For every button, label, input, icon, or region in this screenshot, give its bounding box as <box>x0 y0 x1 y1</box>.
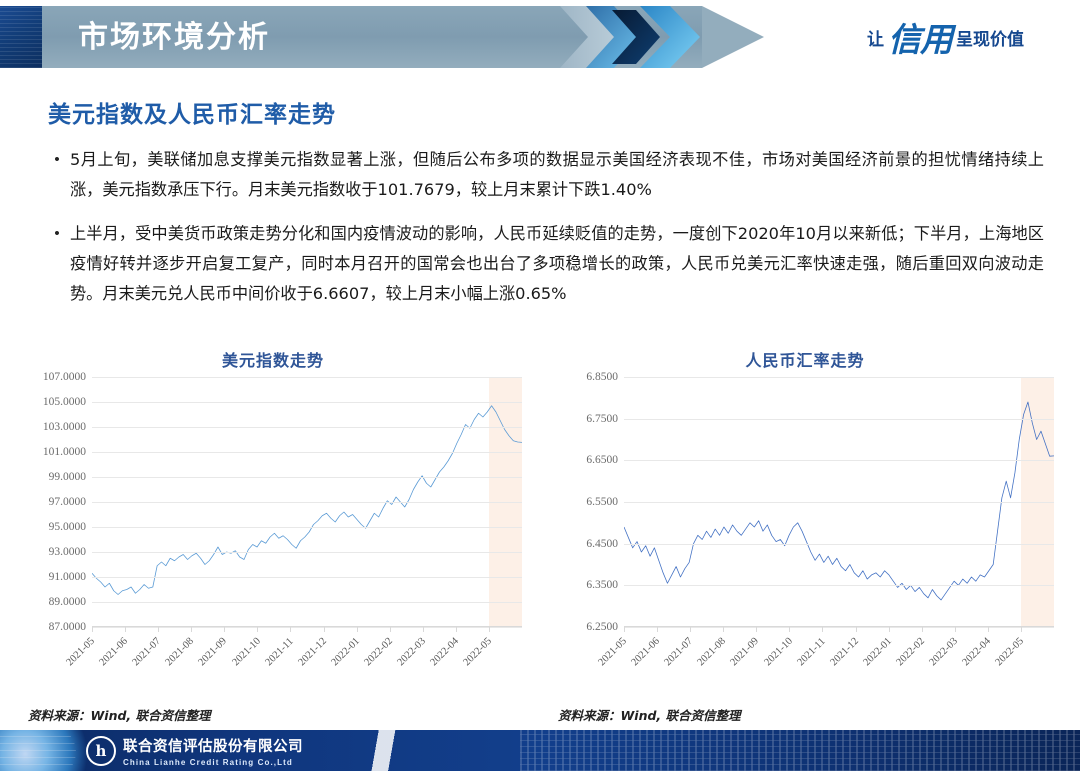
gridline <box>92 402 522 403</box>
bullet-marker: • <box>44 219 70 309</box>
x-tick-label: 2021-10 <box>762 636 795 669</box>
x-tick-label: 2022-01 <box>329 636 362 669</box>
page-title: 市场环境分析 <box>78 15 598 61</box>
y-tick-label: 89.0000 <box>49 596 86 608</box>
gridline <box>92 577 522 578</box>
section-title: 美元指数及人民币汇率走势 <box>48 95 336 129</box>
x-axis-labels: 2021-052021-062021-072021-082021-092021-… <box>92 628 522 688</box>
chevron-arrows-icon <box>560 4 770 70</box>
plot-area: 107.0000105.0000103.0000101.000099.00009… <box>18 377 528 627</box>
chart-usd-index: 美元指数走势 107.0000105.0000103.0000101.00009… <box>18 345 528 693</box>
y-tick-label: 6.5500 <box>586 496 618 508</box>
slogan-suffix: 呈现价值 <box>956 25 1024 50</box>
source-note-right: 资料来源：Wind, 联合资信整理 <box>558 705 741 724</box>
globe-icon <box>0 730 90 771</box>
gridline <box>92 452 522 453</box>
y-axis-labels: 6.85006.75006.65006.55006.45006.35006.25… <box>550 377 622 627</box>
x-tick-label: 2021-05 <box>65 636 98 669</box>
y-tick-label: 6.6500 <box>586 454 618 466</box>
y-tick-label: 6.4500 <box>586 538 618 550</box>
slogan-main: 信用 <box>886 13 954 61</box>
x-tick-label: 2021-05 <box>597 636 630 669</box>
x-tick-label: 2021-10 <box>230 636 263 669</box>
x-tick-label: 2022-02 <box>362 636 395 669</box>
y-tick-label: 91.0000 <box>49 571 86 583</box>
gridline <box>92 552 522 553</box>
x-tick-label: 2021-08 <box>696 636 729 669</box>
chart-cny-rate: 人民币汇率走势 6.85006.75006.65006.55006.45006.… <box>550 345 1060 693</box>
x-tick-label: 2022-03 <box>395 636 428 669</box>
plot-area: 6.85006.75006.65006.55006.45006.35006.25… <box>550 377 1060 627</box>
x-tick-label: 2022-05 <box>994 636 1027 669</box>
y-tick-label: 107.0000 <box>43 371 86 383</box>
logo-mark-icon: h <box>86 736 116 766</box>
x-tick-label: 2021-07 <box>131 636 164 669</box>
brand-slogan: 让 信用 呈现价值 <box>867 14 1024 60</box>
y-tick-label: 93.0000 <box>49 546 86 558</box>
x-tick-label: 2022-01 <box>861 636 894 669</box>
gridline <box>624 419 1054 420</box>
header-navy-block <box>0 6 42 68</box>
gridline <box>92 477 522 478</box>
x-tick-label: 2021-09 <box>729 636 762 669</box>
x-tick-label: 2021-12 <box>828 636 861 669</box>
y-tick-label: 101.0000 <box>43 446 86 458</box>
gridline <box>92 377 522 378</box>
y-tick-label: 6.2500 <box>586 621 618 633</box>
x-tick-label: 2022-05 <box>462 636 495 669</box>
x-tick-label: 2021-11 <box>263 636 295 668</box>
plot-canvas <box>624 377 1054 627</box>
company-logo: h 联合资信评估股份有限公司 China Lianhe Credit Ratin… <box>86 735 303 767</box>
y-tick-label: 97.0000 <box>49 496 86 508</box>
x-tick-label: 2021-06 <box>630 636 663 669</box>
gridline <box>624 544 1054 545</box>
x-axis-line <box>624 626 1054 627</box>
y-axis-labels: 107.0000105.0000103.0000101.000099.00009… <box>18 377 90 627</box>
footer-dot-texture <box>520 730 1080 771</box>
y-tick-label: 103.0000 <box>43 421 86 433</box>
x-tick-label: 2022-04 <box>960 636 993 669</box>
y-tick-label: 6.3500 <box>586 579 618 591</box>
bullet-item: • 5月上旬，美联储加息支撑美元指数显著上涨，但随后公布多项的数据显示美国经济表… <box>44 145 1044 205</box>
bullet-item: • 上半月，受中美货币政策走势分化和国内疫情波动的影响，人民币延续贬值的走势，一… <box>44 219 1044 309</box>
x-tick-label: 2021-07 <box>663 636 696 669</box>
y-tick-label: 6.8500 <box>586 371 618 383</box>
y-tick-label: 105.0000 <box>43 396 86 408</box>
company-name-en: China Lianhe Credit Rating Co.,Ltd <box>123 758 303 767</box>
chart-title: 美元指数走势 <box>18 347 528 371</box>
gridline <box>92 602 522 603</box>
x-tick-label: 2021-09 <box>197 636 230 669</box>
x-tick-label: 2021-08 <box>164 636 197 669</box>
gridline <box>92 527 522 528</box>
x-tick-label: 2022-03 <box>927 636 960 669</box>
bullet-marker: • <box>44 145 70 205</box>
x-tick-label: 2021-06 <box>98 636 131 669</box>
bullet-text: 5月上旬，美联储加息支撑美元指数显著上涨，但随后公布多项的数据显示美国经济表现不… <box>70 145 1044 205</box>
gridline <box>92 427 522 428</box>
slide-header: 市场环境分析 让 信用 呈现价值 <box>0 0 1080 80</box>
gridline <box>624 585 1054 586</box>
x-axis-labels: 2021-052021-062021-072021-082021-092021-… <box>624 628 1054 688</box>
y-tick-label: 87.0000 <box>49 621 86 633</box>
x-tick-label: 2022-02 <box>894 636 927 669</box>
y-tick-label: 99.0000 <box>49 471 86 483</box>
slogan-prefix: 让 <box>867 25 884 50</box>
company-name-cn: 联合资信评估股份有限公司 <box>123 735 303 756</box>
source-note-left: 资料来源：Wind, 联合资信整理 <box>28 705 211 724</box>
gridline <box>624 460 1054 461</box>
chart-title: 人民币汇率走势 <box>550 347 1060 371</box>
plot-canvas <box>92 377 522 627</box>
bullet-text: 上半月，受中美货币政策走势分化和国内疫情波动的影响，人民币延续贬值的走势，一度创… <box>70 219 1044 309</box>
footer-swoosh <box>300 730 500 771</box>
gridline <box>624 377 1054 378</box>
x-tick-label: 2022-04 <box>428 636 461 669</box>
bullet-list: • 5月上旬，美联储加息支撑美元指数显著上涨，但随后公布多项的数据显示美国经济表… <box>44 145 1044 323</box>
gridline <box>624 502 1054 503</box>
x-axis-line <box>92 626 522 627</box>
gridline <box>92 502 522 503</box>
x-tick-label: 2021-11 <box>795 636 827 668</box>
x-tick-label: 2021-12 <box>296 636 329 669</box>
y-tick-label: 6.7500 <box>586 413 618 425</box>
y-tick-label: 95.0000 <box>49 521 86 533</box>
slide-footer: h 联合资信评估股份有限公司 China Lianhe Credit Ratin… <box>0 730 1080 771</box>
